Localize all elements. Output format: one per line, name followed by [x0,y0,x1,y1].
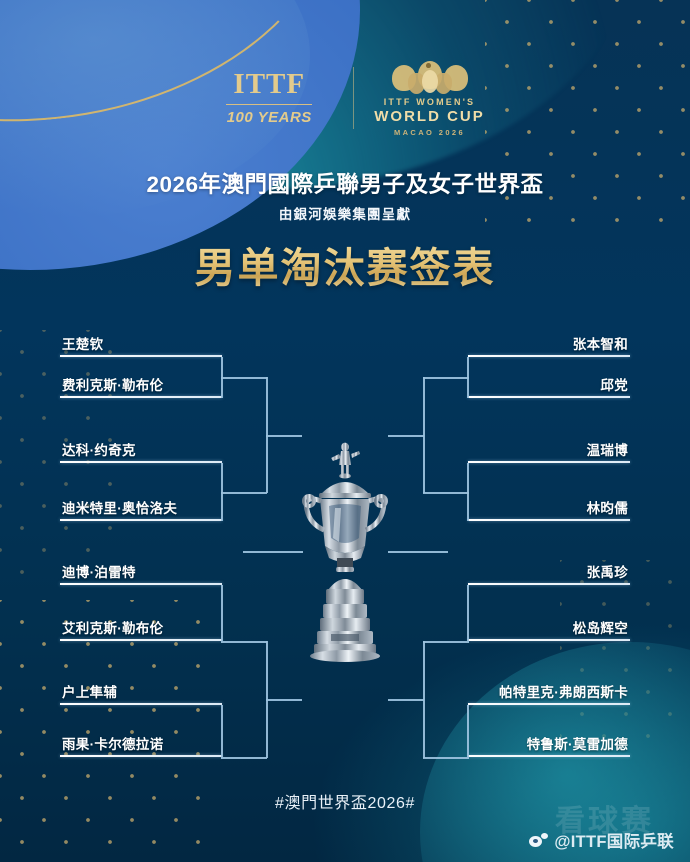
slot-underline [468,583,630,585]
player-name: 张禹珍 [587,561,628,581]
player-name: 温瑞博 [587,439,628,459]
connector-left-final-bot [266,699,302,701]
player-name: 艾利克斯·勒布伦 [62,617,163,637]
watermark-text: @ITTF国际乒联 [554,828,674,852]
player-name: 雨果·卡尔德拉诺 [62,733,163,753]
slot-underline [60,461,222,463]
watermark: @ITTF国际乒联 [528,828,674,852]
connector-left-sf1-in-bot [221,492,267,494]
bracket-chart: 王楚钦 费利克斯·勒布伦 达科·约奇克 迪米特里·奥恰洛夫 迪博·泊雷特 艾利克… [0,0,690,862]
connector-left-sf2-in-top [221,641,267,643]
slot-underline [468,519,630,521]
bracket-slot-right-8: 特鲁斯·莫雷加德 [468,723,630,757]
connector-right-sf1-in-top [423,377,469,379]
bracket-slot-left-2: 费利克斯·勒布伦 [60,364,222,398]
bracket-slot-right-3: 温瑞博 [468,429,630,463]
bracket-slot-right-1: 张本智和 [468,323,630,357]
bracket-slot-left-3: 达科·约奇克 [60,429,222,463]
player-name: 迪博·泊雷特 [62,561,136,581]
bracket-slot-right-7: 帕特里克·弗朗西斯卡 [468,671,630,705]
connector-right-sf2-in-top [423,641,469,643]
bracket-slot-right-2: 邱党 [468,364,630,398]
player-name: 达科·约奇克 [62,439,136,459]
slot-underline [60,519,222,521]
bracket-slot-left-6: 艾利克斯·勒布伦 [60,607,222,641]
slot-underline [468,755,630,757]
player-name: 王楚钦 [62,333,103,353]
player-name: 邱党 [600,374,628,394]
player-name: 特鲁斯·莫雷加德 [527,733,628,753]
connector-right-qf4 [467,705,469,757]
player-name: 张本智和 [573,333,628,353]
weibo-icon [528,832,549,849]
player-name: 费利克斯·勒布伦 [62,374,163,394]
bracket-slot-right-6: 松岛辉空 [468,607,630,641]
bracket-slot-left-5: 迪博·泊雷特 [60,551,222,585]
bracket-slot-left-4: 迪米特里·奥恰洛夫 [60,487,222,521]
player-name: 迪米特里·奥恰洛夫 [62,497,177,517]
slot-underline [60,703,222,705]
connector-right-final-center [388,551,448,553]
bracket-slot-left-7: 户上隼辅 [60,671,222,705]
trophy-icon [295,438,395,666]
slot-underline [60,355,222,357]
connector-left-final-center [243,551,303,553]
player-name: 帕特里克·弗朗西斯卡 [499,681,628,701]
connector-left-qf4 [221,705,223,757]
slot-underline [468,461,630,463]
slot-underline [468,396,630,398]
slot-underline [60,639,222,641]
connector-left-final-top [266,435,302,437]
bracket-slot-left-1: 王楚钦 [60,323,222,357]
bracket-slot-left-8: 雨果·卡尔德拉诺 [60,723,222,757]
bracket-slot-right-4: 林昀儒 [468,487,630,521]
connector-right-final-top [388,435,424,437]
slot-underline [468,355,630,357]
bracket-poster: ITTF 100 YEARS ITTF WOMEN'S WORLD CUP MA… [0,0,690,862]
connector-left-sf2-in-bot [221,757,267,759]
connector-right-sf1-in-bot [423,492,469,494]
player-name: 户上隼辅 [62,681,117,701]
connector-right-sf2-in-bot [423,757,469,759]
player-name: 松岛辉空 [573,617,628,637]
slot-underline [60,396,222,398]
bracket-slot-right-5: 张禹珍 [468,551,630,585]
connector-left-qf3 [221,585,223,641]
connector-right-final-bot [388,699,424,701]
slot-underline [60,583,222,585]
slot-underline [468,703,630,705]
connector-left-sf1-in-top [221,377,267,379]
slot-underline [468,639,630,641]
slot-underline [60,755,222,757]
connector-right-qf3 [467,585,469,641]
player-name: 林昀儒 [587,497,628,517]
